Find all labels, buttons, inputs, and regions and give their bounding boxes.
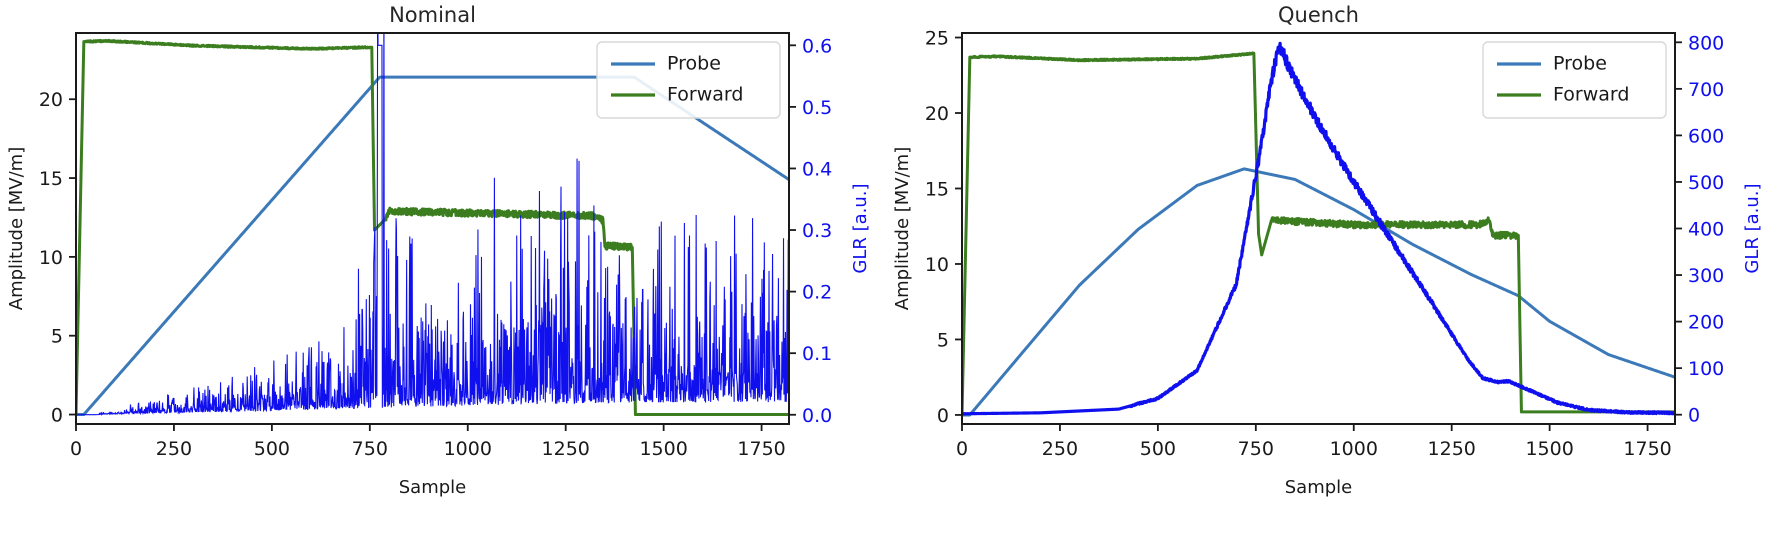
legend-label-probe: Probe <box>667 53 721 75</box>
x-axis-label: Sample <box>1285 477 1353 498</box>
chart-svg-quench: Quench02505007501000125015001750Sample05… <box>886 0 1772 555</box>
chart-panel-quench: Quench02505007501000125015001750Sample05… <box>886 0 1772 555</box>
x-axis-label: Sample <box>399 477 467 498</box>
legend-label-forward: Forward <box>667 84 743 106</box>
x-tick-label: 1000 <box>1330 438 1378 460</box>
y-tick-label: 20 <box>39 89 63 111</box>
series-probe <box>962 169 1675 415</box>
legend-label-forward: Forward <box>1553 84 1629 106</box>
y-tick-label: 10 <box>39 247 63 269</box>
y-axis-label: Amplitude [MV/m] <box>6 147 27 310</box>
chart-panel-nominal: Nominal02505007501000125015001750Sample0… <box>0 0 886 555</box>
x-tick-label: 1250 <box>542 438 590 460</box>
y2-tick-label: 0.4 <box>802 158 832 180</box>
y2-tick-label: 200 <box>1688 312 1724 334</box>
y-tick-label: 15 <box>925 178 949 200</box>
y-axis-label: Amplitude [MV/m] <box>892 147 913 310</box>
x-tick-label: 250 <box>156 438 192 460</box>
y-tick-label: 25 <box>925 28 949 50</box>
legend-label-probe: Probe <box>1553 53 1607 75</box>
x-tick-label: 500 <box>1140 438 1176 460</box>
y2-tick-label: 800 <box>1688 32 1724 54</box>
figure-root: Nominal02505007501000125015001750Sample0… <box>0 0 1772 555</box>
y2-tick-label: 0.3 <box>802 220 832 242</box>
y2-axis-label: GLR [a.u.] <box>850 183 871 273</box>
y2-tick-label: 100 <box>1688 358 1724 380</box>
probe-trace <box>962 169 1675 415</box>
y2-axis-label: GLR [a.u.] <box>1742 183 1763 273</box>
chart-title: Nominal <box>389 3 476 27</box>
y2-tick-label: 0.5 <box>802 97 832 119</box>
x-tick-label: 500 <box>254 438 290 460</box>
y-tick-label: 20 <box>925 103 949 125</box>
y2-tick-label: 700 <box>1688 79 1724 101</box>
legend[interactable]: ProbeForward <box>1483 42 1666 118</box>
y2-tick-label: 0.1 <box>802 343 832 365</box>
y2-tick-label: 500 <box>1688 172 1724 194</box>
x-tick-label: 0 <box>70 438 82 460</box>
legend[interactable]: ProbeForward <box>597 42 780 118</box>
y2-tick-label: 0.0 <box>802 405 832 427</box>
x-tick-label: 750 <box>352 438 388 460</box>
x-tick-label: 250 <box>1042 438 1078 460</box>
y-tick-label: 0 <box>51 405 63 427</box>
y-tick-label: 5 <box>937 329 949 351</box>
y-tick-label: 5 <box>51 326 63 348</box>
chart-svg-nominal: Nominal02505007501000125015001750Sample0… <box>0 0 886 555</box>
y2-tick-label: 600 <box>1688 125 1724 147</box>
x-tick-label: 1750 <box>737 438 785 460</box>
y2-tick-label: 0.6 <box>802 35 832 57</box>
x-tick-label: 1500 <box>639 438 687 460</box>
y2-tick-label: 300 <box>1688 265 1724 287</box>
x-tick-label: 1750 <box>1623 438 1671 460</box>
y-tick-label: 15 <box>39 168 63 190</box>
y-tick-label: 0 <box>937 405 949 427</box>
y2-tick-label: 0 <box>1688 405 1700 427</box>
y-tick-label: 10 <box>925 254 949 276</box>
x-tick-label: 1000 <box>444 438 492 460</box>
chart-title: Quench <box>1278 3 1359 27</box>
x-tick-label: 1250 <box>1428 438 1476 460</box>
y2-tick-label: 400 <box>1688 219 1724 241</box>
x-tick-label: 750 <box>1238 438 1274 460</box>
y2-tick-label: 0.2 <box>802 282 832 304</box>
x-tick-label: 0 <box>956 438 968 460</box>
x-tick-label: 1500 <box>1525 438 1573 460</box>
